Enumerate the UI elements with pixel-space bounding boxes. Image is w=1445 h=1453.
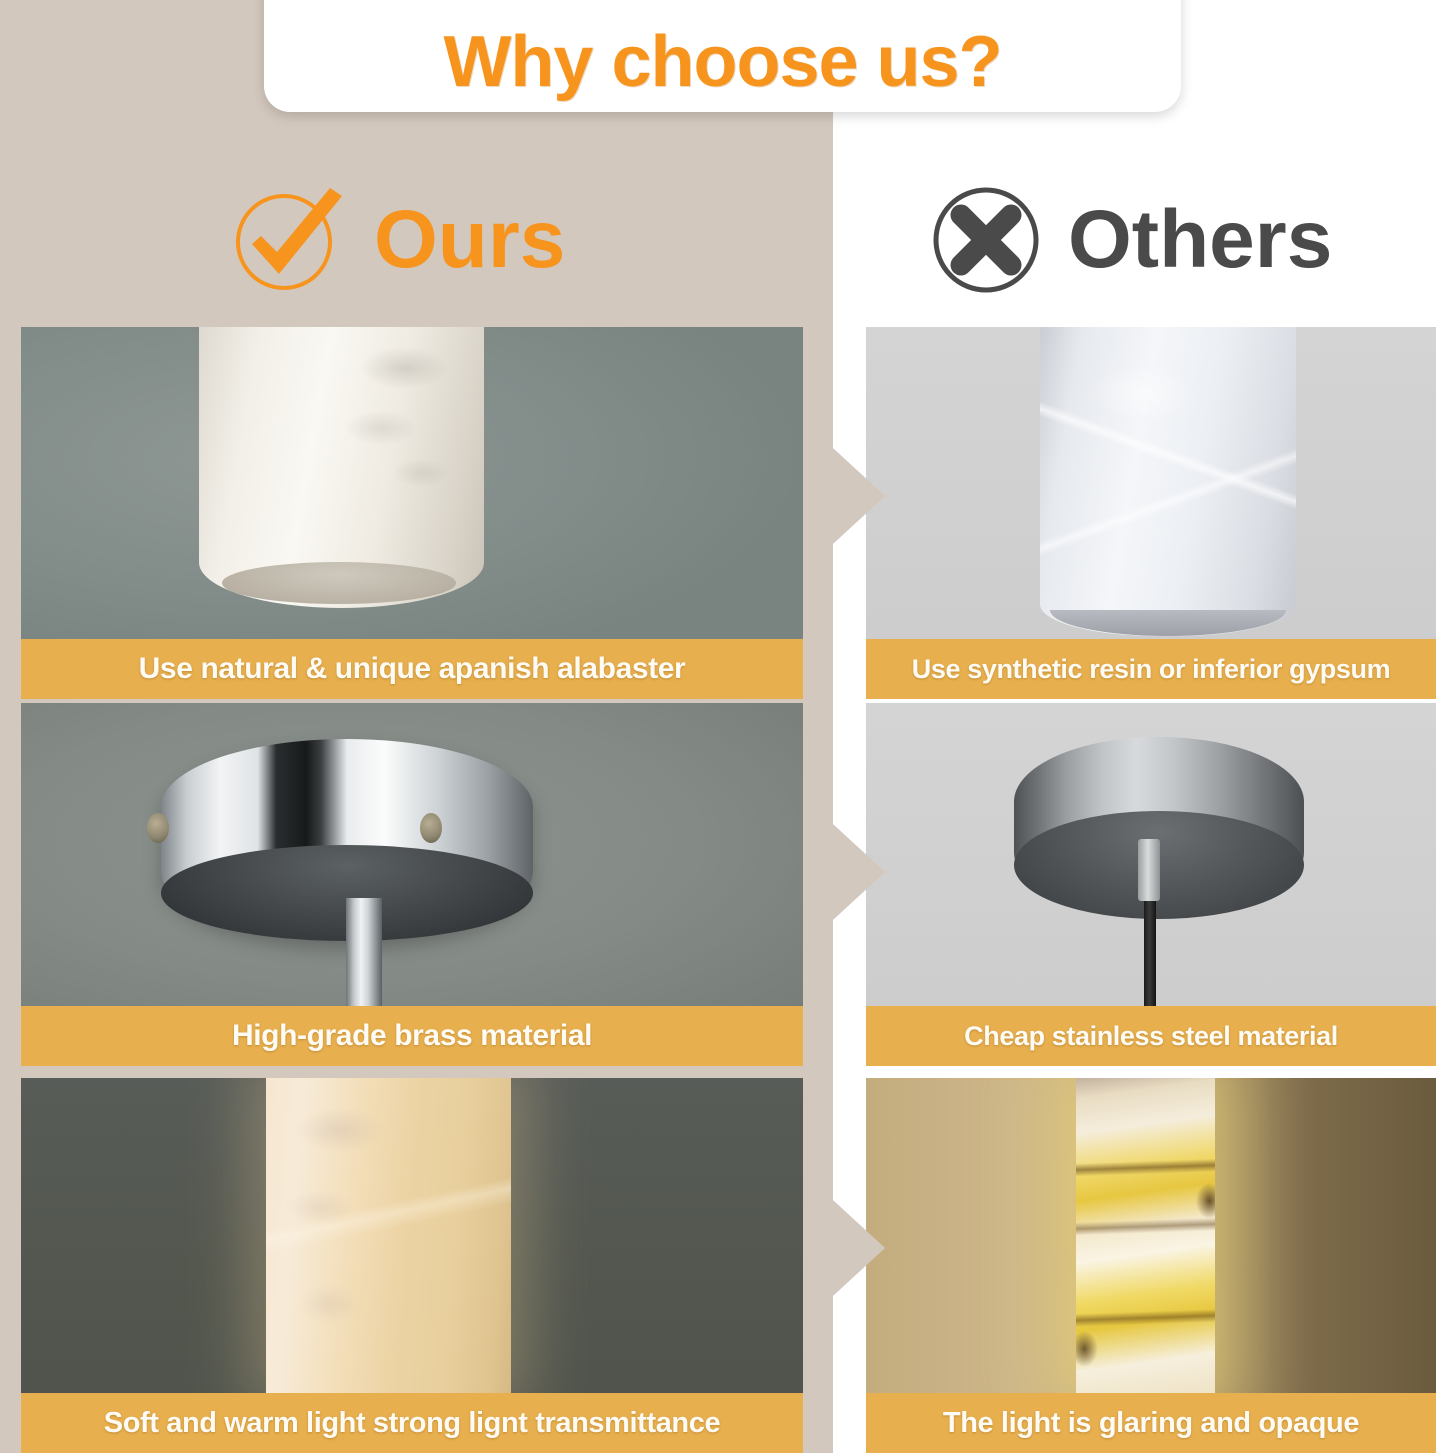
alabaster-veining: [266, 1078, 511, 1394]
check-circle-icon: [232, 182, 348, 298]
comparison-cell-ours-3: Soft and warm light strong lignt transmi…: [21, 1078, 803, 1453]
triangle-right-icon: [833, 1200, 885, 1296]
caption-text: Soft and warm light strong lignt transmi…: [104, 1407, 720, 1440]
x-circle-icon: [930, 182, 1046, 298]
alabaster-veining: [199, 327, 484, 573]
column-header-others: Others: [930, 182, 1332, 298]
column-label-ours: Ours: [374, 199, 565, 281]
page-title: Why choose us?: [443, 26, 1001, 98]
column-header-ours: Ours: [232, 182, 565, 298]
triangle-right-icon: [833, 448, 885, 544]
clamp-screw-bottom: [1158, 881, 1176, 899]
caption-text: High-grade brass material: [232, 1019, 592, 1053]
column-label-others: Others: [1068, 199, 1332, 281]
canopy-screw-right: [420, 813, 442, 843]
caption-text: Cheap stainless steel material: [964, 1021, 1338, 1052]
comparison-cell-others-3: The light is glaring and opaque: [866, 1078, 1436, 1453]
comparison-cell-others-2: Cheap stainless steel material: [866, 703, 1436, 1066]
caption-bar: Cheap stainless steel material: [866, 1006, 1436, 1066]
comparison-cell-ours-1: Use natural & unique apanish alabaster: [21, 327, 803, 699]
caption-bar: Use synthetic resin or inferior gypsum: [866, 639, 1436, 699]
caption-bar: Soft and warm light strong lignt transmi…: [21, 1393, 803, 1453]
caption-text: The light is glaring and opaque: [943, 1407, 1359, 1440]
clamp-screw-top: [1158, 841, 1176, 859]
comparison-cell-ours-2: High-grade brass material: [21, 703, 803, 1066]
cable-clamp: [1138, 839, 1160, 901]
black-cable: [1144, 893, 1156, 1023]
comparison-cell-others-1: Use synthetic resin or inferior gypsum: [866, 327, 1436, 699]
caption-text: Use synthetic resin or inferior gypsum: [912, 654, 1390, 685]
caption-bar: Use natural & unique apanish alabaster: [21, 639, 803, 699]
caption-bar: High-grade brass material: [21, 1006, 803, 1066]
why-choose-us-comparison-poster: Why choose us? Ours Others: [0, 0, 1445, 1453]
caption-bar: The light is glaring and opaque: [866, 1393, 1436, 1453]
marble-banding: [1076, 1078, 1215, 1394]
title-card: Why choose us?: [264, 0, 1181, 112]
triangle-right-icon: [833, 824, 885, 920]
synthetic-crack-lines: [1040, 327, 1296, 621]
canopy-screw-left: [147, 813, 169, 843]
caption-text: Use natural & unique apanish alabaster: [139, 652, 686, 686]
